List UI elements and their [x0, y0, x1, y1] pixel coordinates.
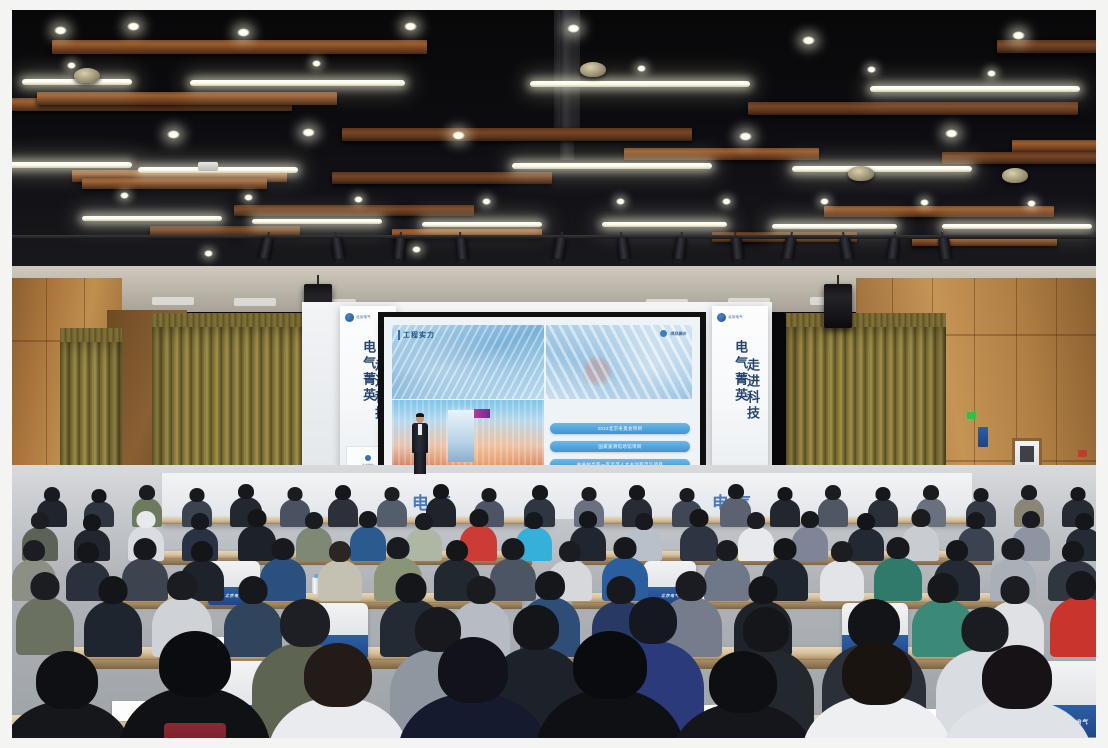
- audience-person: [770, 499, 800, 527]
- ceiling-projector: [198, 162, 218, 171]
- ceiling-wood-beam: [234, 205, 474, 216]
- ceiling-downlight: [302, 128, 315, 137]
- company-roundel-logo-icon: [717, 313, 726, 322]
- ceiling-wood-beam: [342, 128, 692, 141]
- ceiling-wood-beam: [997, 40, 1096, 53]
- slide-watermark-logo: 项目展示: [660, 330, 686, 337]
- watermark-roundel-icon: [660, 330, 667, 337]
- ceiling-wood-beam: [332, 172, 552, 184]
- ceiling-downlight: [920, 199, 929, 206]
- slide-bullet-item: 2022北京冬奥会项目: [550, 423, 690, 434]
- audience-person: [874, 557, 922, 601]
- audience-person: [377, 499, 407, 527]
- ceiling-downlight: [167, 130, 180, 139]
- slide-bullet-item: 国家速滑馆场馆项目: [550, 441, 690, 452]
- audience-person: [224, 601, 282, 657]
- ceiling-wood-beam: [824, 206, 1054, 217]
- ceiling-downlight: [616, 198, 625, 205]
- audience-person: [818, 498, 848, 527]
- slide-caption: 工程实力: [398, 330, 435, 340]
- slide-image-top-right: 项目展示: [546, 325, 692, 399]
- ceiling-wood-beam: [942, 152, 1096, 164]
- ceiling-led-strip: [772, 224, 897, 229]
- audience-person: [792, 526, 828, 561]
- hanging-speaker-right: [824, 284, 852, 328]
- skyline-tower-shape: [448, 410, 474, 462]
- ceiling-downlight: [567, 24, 580, 33]
- soffit-light-panel: [152, 297, 194, 305]
- audience-person: [848, 528, 884, 561]
- ceiling-downlight: [204, 250, 213, 257]
- ceiling-led-strip: [422, 222, 542, 227]
- ceiling-downlight: [945, 129, 958, 138]
- banner-line-2: 走进科技: [743, 358, 762, 422]
- handbag: [164, 723, 226, 738]
- ceiling-led-strip: [870, 86, 1080, 92]
- audience-person: [238, 525, 276, 561]
- slide-bullet-list: 2022北京冬奥会项目 国家速滑馆场馆项目 中关村高新一区示范人才主创新电气项目: [550, 423, 690, 470]
- ceiling-horn-speaker: [580, 62, 606, 77]
- skyline-flag-shape: [474, 409, 490, 418]
- ceiling-led-strip: [12, 162, 132, 168]
- photo-white-border: 北京电气 电气菁英 走进科技 主办单位 北京电气: [0, 0, 1108, 748]
- ceiling-led-strip: [252, 219, 382, 224]
- ceiling-downlight: [354, 196, 363, 203]
- right-roll-up-banner: 北京电气 电气菁英 走进科技: [712, 306, 768, 484]
- audience-person: [328, 498, 358, 527]
- ceiling-downlight: [412, 246, 421, 253]
- slide-image-top-left: 工程实力: [392, 325, 544, 399]
- ceiling-downlight: [1027, 200, 1036, 207]
- presenter-figure: [411, 414, 429, 474]
- ceiling-wood-beam: [624, 148, 819, 160]
- audience-person: [350, 526, 386, 561]
- ceiling: [12, 10, 1096, 280]
- conference-hall-photo: 北京电气 电气菁英 走进科技 主办单位 北京电气: [12, 10, 1096, 738]
- ceiling-led-strip: [530, 81, 750, 87]
- ceiling-led-strip: [792, 166, 972, 172]
- banner-logo-left: 北京电气: [345, 313, 371, 322]
- bullet-label: 2022北京冬奥会项目: [598, 426, 643, 432]
- ceiling-downlight: [987, 70, 996, 77]
- audience-person: [296, 527, 332, 561]
- ceiling-led-strip: [512, 163, 712, 169]
- banner-logo-text: 北京电气: [356, 316, 371, 320]
- screenshot-root: 北京电气 电气菁英 走进科技 主办单位 北京电气: [0, 0, 1108, 748]
- fire-alarm-sign: [1078, 450, 1087, 457]
- sponsor-logo-icon: [365, 455, 371, 461]
- ceiling-downlight: [54, 26, 67, 35]
- ceiling-led-strip: [190, 80, 405, 86]
- audience-person: [738, 527, 774, 561]
- ceiling-downlight: [637, 65, 646, 72]
- ceiling-downlight: [312, 60, 321, 67]
- audience-person: [84, 601, 142, 657]
- ceiling-downlight: [120, 192, 129, 199]
- ceiling-downlight: [237, 28, 250, 37]
- ceiling-downlight: [452, 131, 465, 140]
- ceiling-downlight: [482, 198, 491, 205]
- audience-person: [820, 560, 864, 601]
- ceiling-wood-beam: [52, 40, 427, 54]
- ceiling-led-strip: [138, 167, 298, 173]
- audience-area: 电气 电气: [12, 465, 1096, 738]
- audience-person: [122, 558, 168, 601]
- exit-sign-icon: [967, 412, 976, 419]
- ceiling-downlight: [1012, 31, 1025, 40]
- ceiling-downlight: [404, 22, 417, 31]
- notice-sign: [978, 427, 988, 447]
- company-roundel-logo-icon: [345, 313, 354, 322]
- soffit-light-panel: [234, 298, 276, 306]
- ceiling-wood-beam: [82, 178, 267, 189]
- ceiling-downlight: [67, 62, 76, 69]
- ceiling-downlight: [722, 198, 731, 205]
- bullet-label: 国家速滑馆场馆项目: [598, 444, 641, 450]
- ceiling-led-strip: [82, 216, 222, 221]
- audience-person: [490, 558, 536, 601]
- audience-person: [680, 525, 718, 561]
- ceiling-downlight: [244, 194, 253, 201]
- ceiling-wood-beam: [37, 92, 337, 105]
- ceiling-downlight: [739, 132, 752, 141]
- ceiling-horn-speaker: [848, 166, 874, 181]
- banner-logo-right: 北京电气: [717, 313, 743, 322]
- audience-person: [1050, 597, 1096, 657]
- ceiling-led-strip: [942, 224, 1092, 229]
- ceiling-downlight: [867, 66, 876, 73]
- audience-person: [318, 560, 362, 601]
- audience-person: [406, 528, 442, 561]
- led-presentation-screen: 工程实力 项目展示 2022北京冬奥会项目 国家速滑馆场馆项目 中关村高新一区示…: [384, 317, 700, 482]
- ceiling-led-strip: [602, 222, 727, 227]
- ceiling-horn-speaker: [74, 68, 100, 83]
- audience-person: [16, 597, 74, 655]
- ceiling-downlight: [127, 22, 140, 31]
- lighting-truss: [12, 235, 1096, 239]
- banner-logo-text: 北京电气: [728, 316, 743, 320]
- ceiling-downlight: [820, 198, 829, 205]
- audience-person: [704, 559, 750, 601]
- ceiling-wood-beam: [748, 102, 1078, 115]
- ceiling-horn-speaker: [1002, 168, 1028, 183]
- watermark-text: 项目展示: [670, 331, 686, 337]
- ceiling-downlight: [802, 36, 815, 45]
